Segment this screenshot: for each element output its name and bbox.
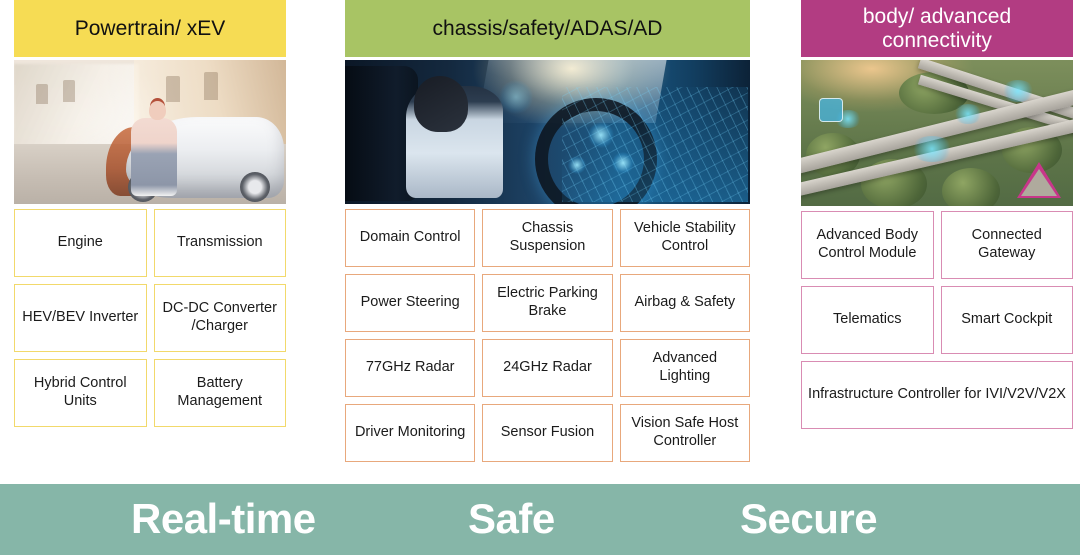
column-header-chassis: chassis/safety/ADAS/AD	[345, 0, 750, 57]
tree-glyph	[942, 168, 1000, 206]
feature-box[interactable]: Engine	[14, 209, 147, 277]
banner-word-secure: Secure	[740, 495, 877, 543]
v2x-signal-ping	[910, 136, 954, 162]
feature-box[interactable]: Smart Cockpit	[941, 286, 1074, 354]
hud-glow	[568, 156, 586, 174]
body-photo	[801, 60, 1073, 206]
feature-box[interactable]: Chassis Suspension	[482, 209, 612, 267]
driver-head	[414, 76, 468, 132]
column-header-powertrain: Powertrain/ xEV	[14, 0, 286, 57]
feature-box[interactable]: Vehicle Stability Control	[620, 209, 750, 267]
powertrain-feature-grid: Engine Transmission HEV/BEV Inverter DC-…	[14, 209, 286, 427]
feature-box[interactable]: Transmission	[154, 209, 287, 277]
column-body: body/ advanced connectivity Advanced Bod…	[801, 0, 1073, 429]
road-sign-icon	[819, 98, 843, 122]
chassis-photo	[345, 60, 750, 204]
feature-box[interactable]: Domain Control	[345, 209, 475, 267]
feature-box[interactable]: Hybrid Control Units	[14, 359, 147, 427]
banner-word-real-time: Real-time	[131, 495, 316, 543]
feature-box[interactable]: Driver Monitoring	[345, 404, 475, 462]
feature-box[interactable]: Sensor Fusion	[482, 404, 612, 462]
person-head	[149, 101, 166, 120]
solutions-board: Powertrain/ xEV Engine Transmission HEV/…	[0, 0, 1080, 478]
feature-box[interactable]: Vision Safe Host Controller	[620, 404, 750, 462]
body-feature-grid: Advanced Body Control Module Connected G…	[801, 211, 1073, 429]
hud-glow	[588, 122, 614, 148]
window-glyph	[204, 72, 218, 100]
feature-box[interactable]: 24GHz Radar	[482, 339, 612, 397]
feature-box[interactable]: 77GHz Radar	[345, 339, 475, 397]
feature-box[interactable]: Airbag & Safety	[620, 274, 750, 332]
attributes-banner: Real-time Safe Secure	[0, 484, 1080, 555]
feature-box[interactable]: Infrastructure Controller for IVI/V2V/V2…	[801, 361, 1073, 429]
feature-box[interactable]: Connected Gateway	[941, 211, 1074, 279]
window-glyph	[166, 76, 180, 102]
chassis-feature-grid: Domain Control Chassis Suspension Vehicl…	[345, 209, 750, 462]
feature-box[interactable]: Electric Parking Brake	[482, 274, 612, 332]
window-glyph	[63, 80, 75, 102]
feature-box[interactable]: Advanced Lighting	[620, 339, 750, 397]
feature-box[interactable]: DC-DC Converter /Charger	[154, 284, 287, 352]
feature-box[interactable]: Battery Management	[154, 359, 287, 427]
banner-word-safe: Safe	[468, 495, 555, 543]
powertrain-photo	[14, 60, 286, 204]
column-header-body: body/ advanced connectivity	[801, 0, 1073, 57]
person-figure	[131, 118, 177, 196]
feature-box[interactable]: Power Steering	[345, 274, 475, 332]
feature-box[interactable]: Telematics	[801, 286, 934, 354]
window-glyph	[36, 84, 48, 104]
hud-glow	[499, 80, 533, 114]
hud-overlay	[562, 87, 748, 202]
column-chassis: chassis/safety/ADAS/AD Domain Control Ch…	[345, 0, 750, 462]
car-wheel	[240, 172, 270, 202]
v2x-signal-ping	[953, 104, 983, 124]
column-powertrain: Powertrain/ xEV Engine Transmission HEV/…	[14, 0, 286, 427]
feature-box[interactable]: HEV/BEV Inverter	[14, 284, 147, 352]
feature-box[interactable]: Advanced Body Control Module	[801, 211, 934, 279]
